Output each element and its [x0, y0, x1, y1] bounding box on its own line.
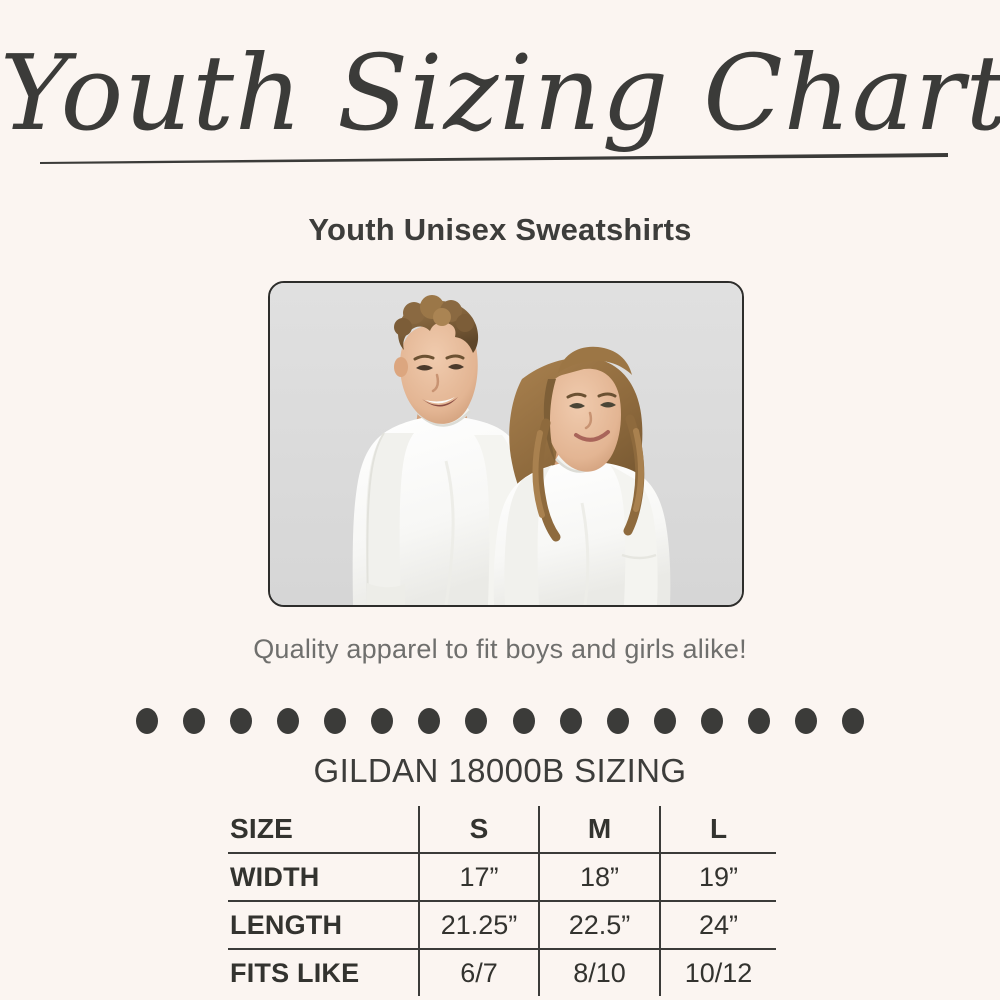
cell-length-m: 22.5”	[539, 901, 660, 949]
size-table: SIZE S M L WIDTH 17” 18” 19” LENGTH 21.2…	[228, 806, 776, 996]
table-header-l: L	[660, 806, 776, 853]
divider-dot	[513, 708, 535, 734]
divider-dot	[795, 708, 817, 734]
divider-dot	[607, 708, 629, 734]
divider-dot	[371, 708, 393, 734]
row-label-fits-like: FITS LIKE	[228, 949, 419, 996]
page-title: Youth Sizing Chart	[0, 18, 1000, 168]
row-label-width: WIDTH	[228, 853, 419, 901]
table-row: FITS LIKE 6/7 8/10 10/12	[228, 949, 776, 996]
table-row: LENGTH 21.25” 22.5” 24”	[228, 901, 776, 949]
divider-dot	[560, 708, 582, 734]
divider-dot	[465, 708, 487, 734]
divider-dot	[654, 708, 676, 734]
tagline: Quality apparel to fit boys and girls al…	[0, 634, 1000, 665]
table-header-m: M	[539, 806, 660, 853]
divider-dot	[324, 708, 346, 734]
product-photo-illustration	[270, 283, 742, 605]
product-photo	[268, 281, 744, 607]
table-header-row: SIZE S M L	[228, 806, 776, 853]
cell-fits-like-m: 8/10	[539, 949, 660, 996]
divider-dot	[136, 708, 158, 734]
divider-dot	[230, 708, 252, 734]
divider-dot	[418, 708, 440, 734]
cell-width-s: 17”	[419, 853, 539, 901]
divider-dot	[842, 708, 864, 734]
cell-length-s: 21.25”	[419, 901, 539, 949]
table-header-s: S	[419, 806, 539, 853]
cell-fits-like-l: 10/12	[660, 949, 776, 996]
product-subtitle: Youth Unisex Sweatshirts	[0, 212, 1000, 248]
row-label-length: LENGTH	[228, 901, 419, 949]
sizing-chart-page: Youth Sizing Chart Youth Unisex Sweatshi…	[0, 0, 1000, 1000]
cell-fits-like-s: 6/7	[419, 949, 539, 996]
table-row: WIDTH 17” 18” 19”	[228, 853, 776, 901]
cell-width-m: 18”	[539, 853, 660, 901]
divider-dot	[701, 708, 723, 734]
divider-dot	[183, 708, 205, 734]
title-block: Youth Sizing Chart	[0, 18, 1000, 183]
title-underline-swash	[38, 151, 950, 164]
divider-dot	[277, 708, 299, 734]
size-table-heading: GILDAN 18000B SIZING	[0, 752, 1000, 790]
cell-length-l: 24”	[660, 901, 776, 949]
table-header-size: SIZE	[228, 806, 419, 853]
divider-dot	[748, 708, 770, 734]
cell-width-l: 19”	[660, 853, 776, 901]
dot-divider	[136, 708, 864, 734]
